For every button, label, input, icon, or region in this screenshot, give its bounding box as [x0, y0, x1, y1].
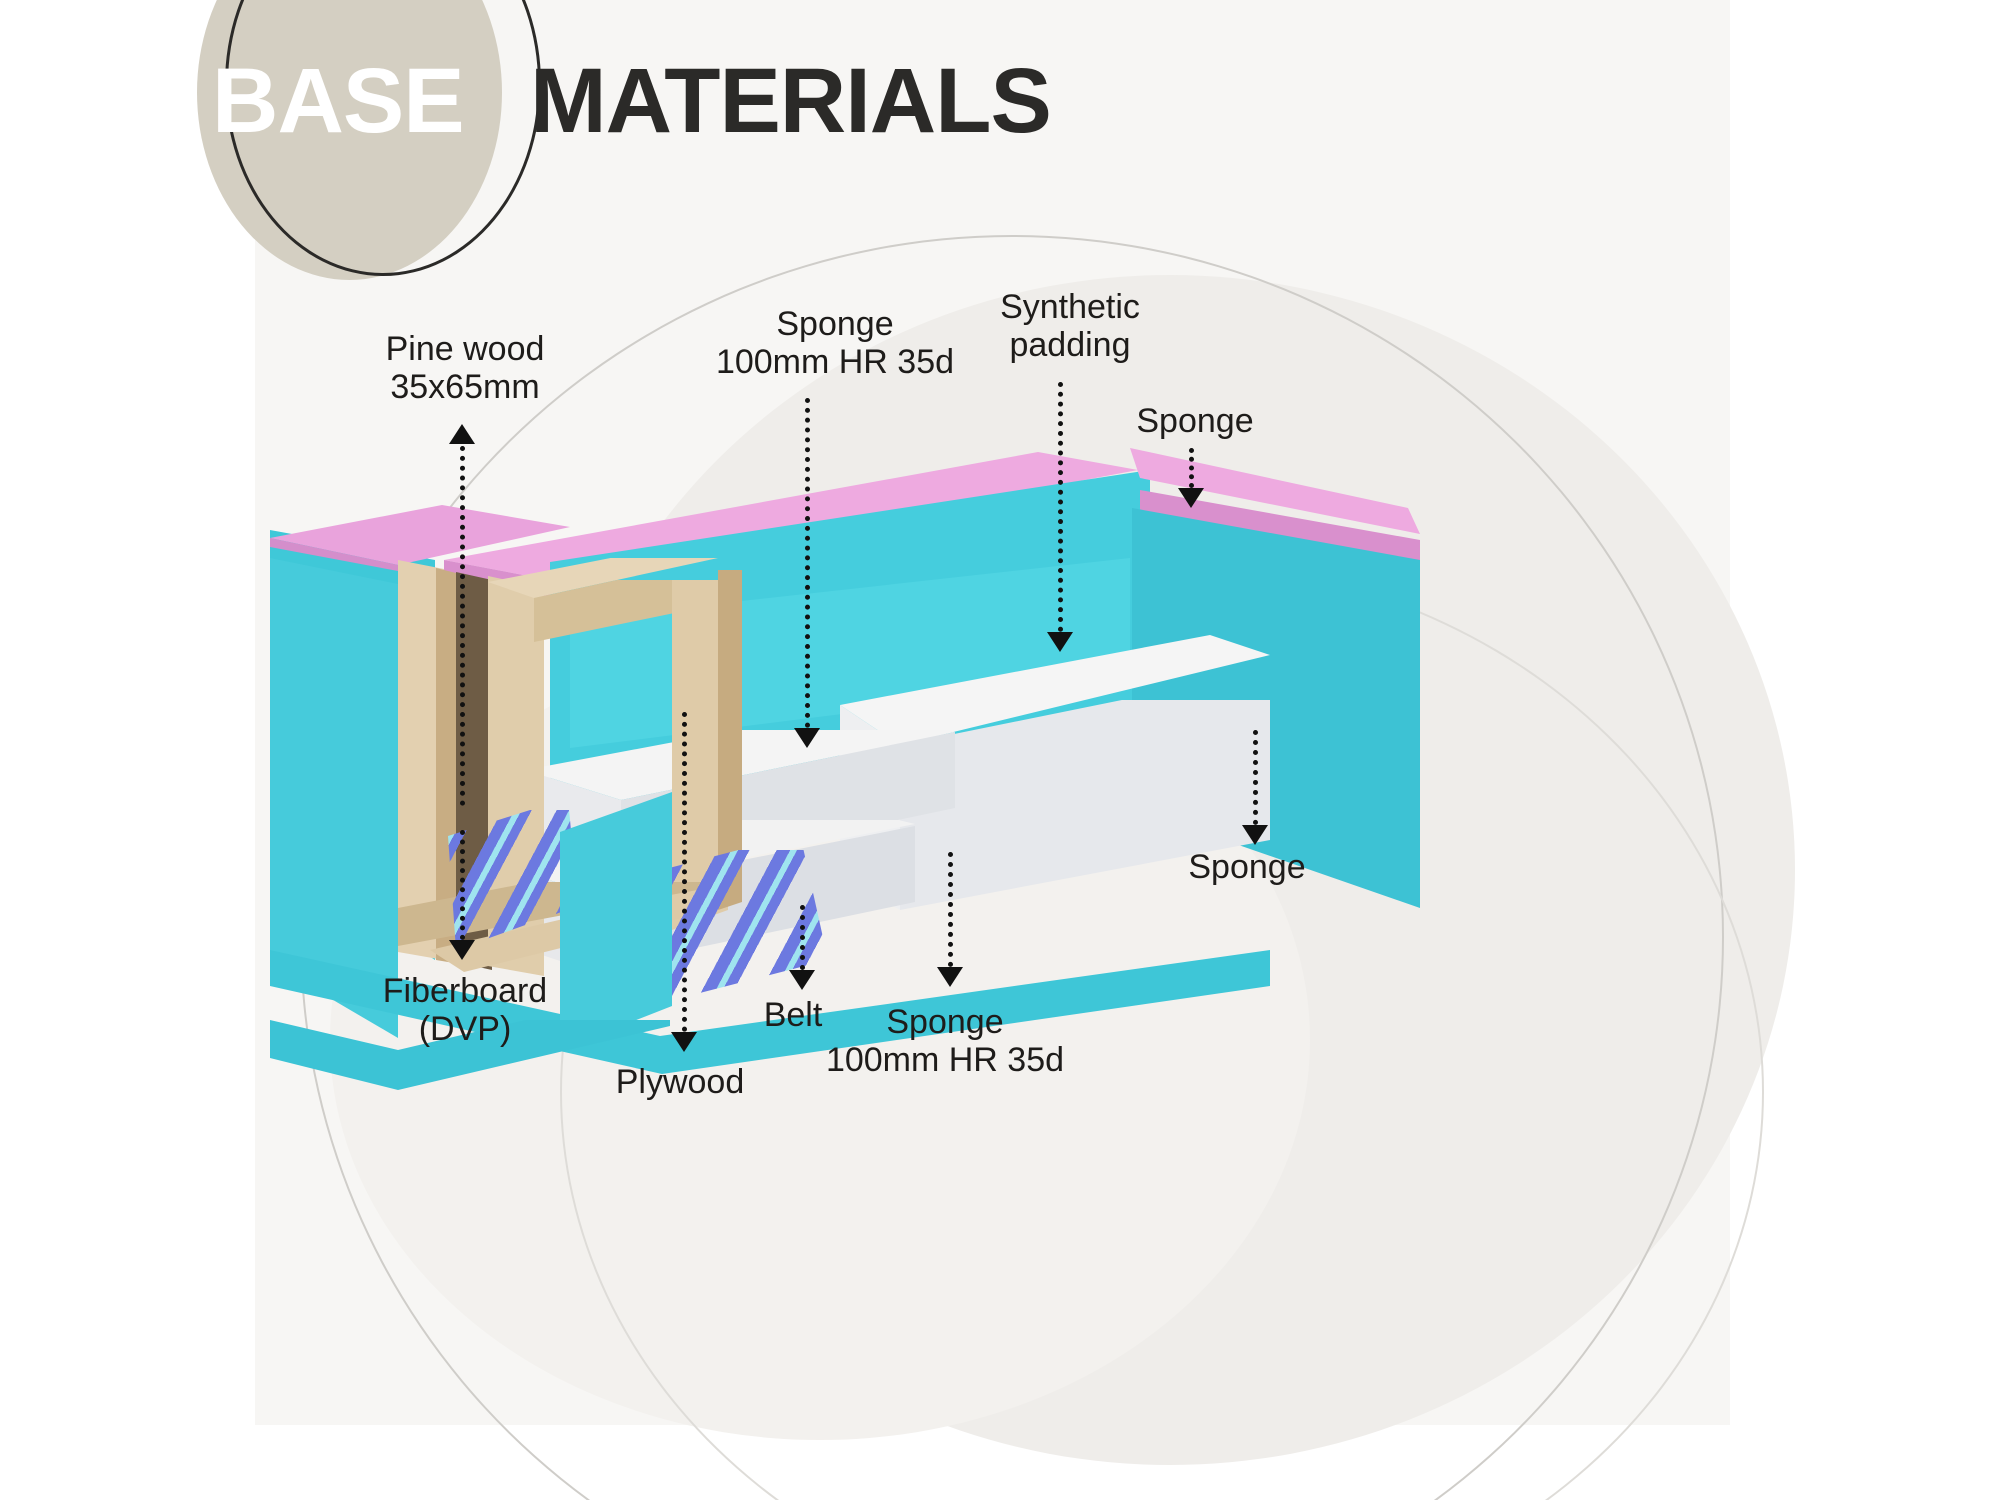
leader-plywood — [682, 712, 687, 1032]
leader-sponge-right — [1253, 730, 1258, 825]
leader-belt — [800, 905, 805, 970]
arrowhead-sponge-right-down — [1242, 825, 1268, 845]
leader-pine-wood — [460, 446, 465, 806]
sofa-base-model — [270, 430, 1300, 1050]
leader-synthetic-padding — [1058, 382, 1063, 632]
label-sponge-bottom: Sponge 100mm HR 35d — [790, 1003, 1100, 1079]
label-sponge-right: Sponge — [1152, 848, 1342, 886]
leader-sponge-bottom — [948, 852, 953, 967]
arrowhead-synthetic-padding-down — [1047, 632, 1073, 652]
label-sponge-upper-right: Sponge — [1095, 402, 1295, 440]
arrowhead-sponge-top-down — [794, 728, 820, 748]
leader-sponge-top — [805, 398, 810, 728]
arrowhead-belt-down — [789, 970, 815, 990]
label-plywood: Plywood — [585, 1063, 775, 1101]
page-title: MATERIALS — [530, 55, 1051, 147]
arrowhead-pine-wood-up — [449, 424, 475, 444]
leader-fiberboard — [460, 830, 465, 940]
label-pine-wood: Pine wood 35x65mm — [340, 330, 590, 406]
arrowhead-sponge-bottom-down — [937, 967, 963, 987]
label-synthetic-padding: Synthetic padding — [935, 288, 1205, 364]
label-fiberboard: Fiberboard (DVP) — [345, 972, 585, 1048]
arrowhead-sponge-upper-right-down — [1178, 488, 1204, 508]
leader-sponge-upper-right — [1189, 448, 1194, 488]
arrowhead-plywood-down — [671, 1032, 697, 1052]
arrowhead-fiberboard-down — [449, 940, 475, 960]
diagram-canvas: BASE MATERIALS — [0, 0, 2000, 1500]
badge-label: BASE — [212, 55, 482, 147]
